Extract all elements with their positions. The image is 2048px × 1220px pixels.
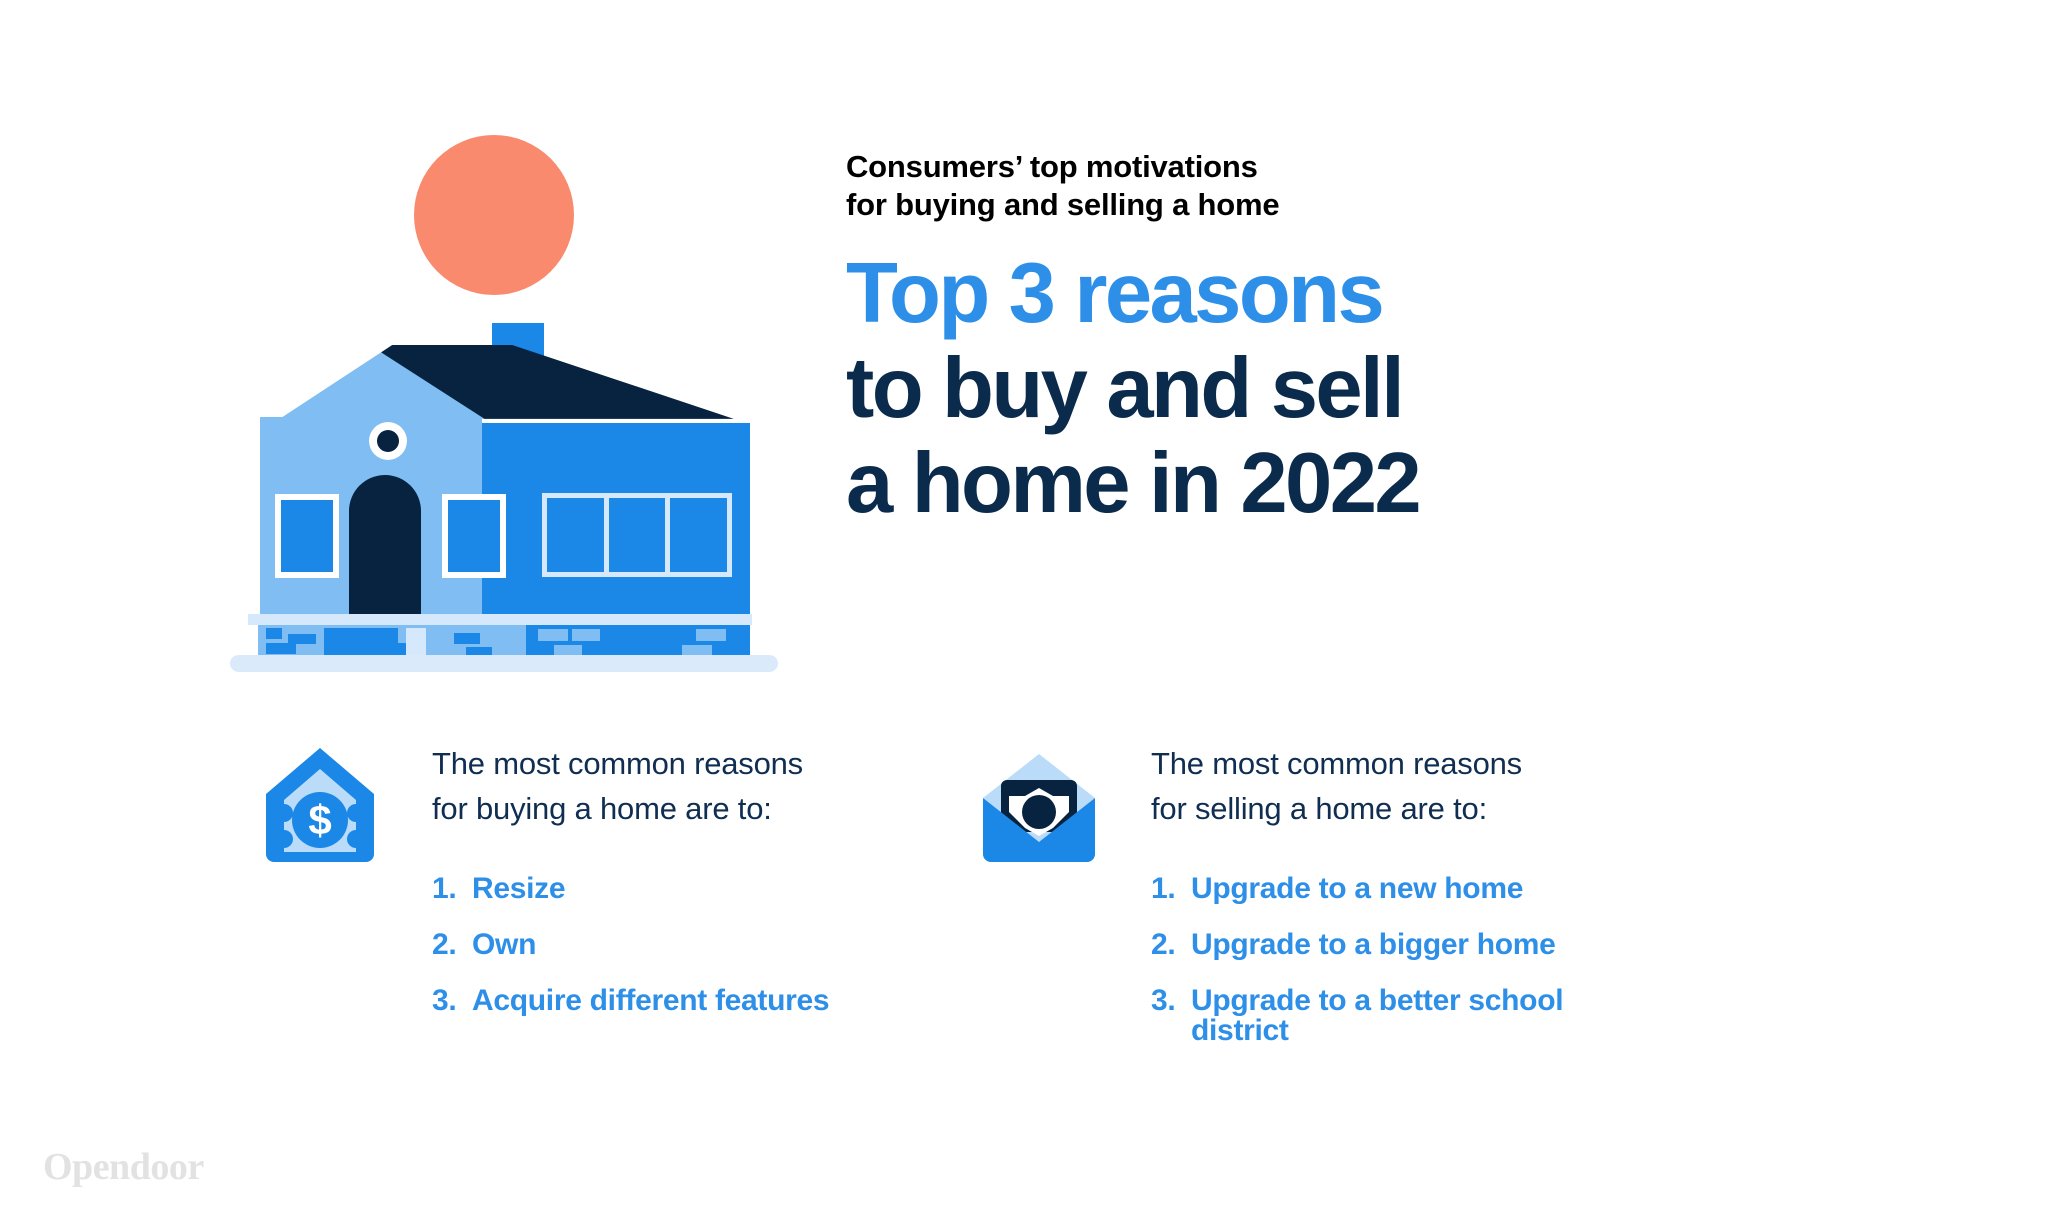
- front-door-shape: [349, 475, 421, 620]
- dollar-coin-icon: [414, 135, 574, 295]
- headline-block: Consumers’ top motivations for buying an…: [846, 148, 1896, 531]
- infographic-canvas: $: [0, 0, 2048, 1220]
- list-item: 3. Acquire different features: [432, 986, 892, 1016]
- window-pane: [547, 498, 604, 572]
- list-item: 1. Upgrade to a new home: [1151, 874, 1611, 904]
- list-item-number: 3.: [432, 986, 472, 1016]
- eyebrow-text: Consumers’ top motivations for buying an…: [846, 148, 1896, 224]
- list-item-label: Upgrade to a new home: [1191, 874, 1611, 904]
- eyebrow-line-2: for buying and selling a home: [846, 186, 1896, 224]
- house-sill-band: [248, 614, 752, 625]
- window-left-1: [275, 494, 339, 578]
- round-attic-window-pane: [377, 430, 399, 452]
- list-item-number: 2.: [1151, 930, 1191, 960]
- opendoor-watermark: Opendoor: [43, 1148, 204, 1186]
- brick: [454, 633, 480, 644]
- brick: [406, 628, 426, 658]
- sell-reasons-list: 1. Upgrade to a new home 2. Upgrade to a…: [1151, 874, 1611, 1046]
- list-item: 2. Upgrade to a bigger home: [1151, 930, 1611, 960]
- envelope-money-icon: [975, 742, 1103, 870]
- buy-lede: The most common reasons for buying a hom…: [432, 742, 892, 832]
- list-item-label: Resize: [472, 874, 892, 904]
- house-foundation-bricks: [258, 625, 750, 659]
- brick: [572, 629, 600, 641]
- sell-lede: The most common reasons for selling a ho…: [1151, 742, 1611, 832]
- list-item-label: Upgrade to a bigger home: [1191, 930, 1611, 960]
- buy-lede-line-1: The most common reasons: [432, 746, 803, 781]
- brick: [696, 629, 726, 641]
- headline-line-3: a home in 2022: [846, 436, 1896, 531]
- page-title: Top 3 reasons to buy and sell a home in …: [846, 246, 1896, 532]
- list-item-label: Own: [472, 930, 892, 960]
- headline-line-1: Top 3 reasons: [846, 246, 1896, 341]
- brick: [266, 643, 296, 654]
- money-house-icon: $: [256, 742, 384, 870]
- dollar-sign-glyph: $: [230, 120, 390, 280]
- list-item: 1. Resize: [432, 874, 892, 904]
- list-item-number: 3.: [1151, 986, 1191, 1046]
- list-item: 2. Own: [432, 930, 892, 960]
- headline-line-2: to buy and sell: [846, 341, 1896, 436]
- list-item-label: Upgrade to a better school district: [1191, 986, 1611, 1046]
- brick: [538, 629, 568, 641]
- list-item-number: 2.: [432, 930, 472, 960]
- sell-lede-line-2: for selling a home are to:: [1151, 791, 1487, 826]
- house-with-dollar-coin-illustration: $: [230, 120, 800, 640]
- list-item-number: 1.: [1151, 874, 1191, 904]
- window-pane: [670, 498, 727, 572]
- window-triple-right: [542, 493, 732, 577]
- window-left-2: [442, 494, 506, 578]
- list-item-label: Acquire different features: [472, 986, 892, 1016]
- window-pane: [281, 500, 333, 572]
- brick: [266, 628, 282, 639]
- buy-lede-line-2: for buying a home are to:: [432, 791, 772, 826]
- window-pane: [448, 500, 500, 572]
- list-item-number: 1.: [432, 874, 472, 904]
- sell-column-body: The most common reasons for selling a ho…: [1151, 742, 1611, 1072]
- eyebrow-line-1: Consumers’ top motivations: [846, 148, 1896, 186]
- ground-shadow: [230, 655, 778, 672]
- sell-lede-line-1: The most common reasons: [1151, 746, 1522, 781]
- buy-column-body: The most common reasons for buying a hom…: [432, 742, 892, 1042]
- money-house-dollar-glyph: $: [308, 797, 331, 844]
- list-item: 3. Upgrade to a better school district: [1151, 986, 1611, 1046]
- window-pane: [609, 498, 666, 572]
- buy-reasons-list: 1. Resize 2. Own 3. Acquire different fe…: [432, 874, 892, 1016]
